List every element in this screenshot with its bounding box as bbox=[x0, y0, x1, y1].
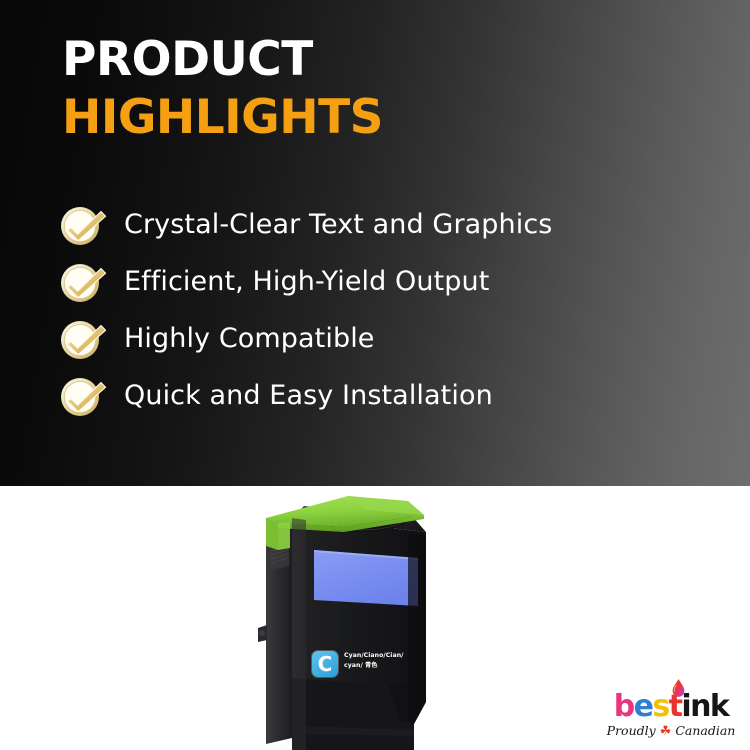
brand-letter-s: s bbox=[652, 689, 668, 724]
title-line-highlights: HIGHLIGHTS bbox=[62, 94, 383, 141]
feature-list: Crystal-Clear Text and Graphics Efficien… bbox=[60, 196, 710, 424]
check-circle-icon bbox=[60, 374, 108, 418]
toner-cartridge-image: C Cyan/Ciano/Cian/ cyan/ 青色 bbox=[248, 488, 448, 750]
feature-label: Quick and Easy Installation bbox=[124, 382, 493, 409]
brand-logo[interactable]: bestink Proudly ☘ Canadian bbox=[604, 692, 738, 738]
check-circle-icon bbox=[60, 260, 108, 304]
tagline-canadian: Canadian bbox=[675, 723, 735, 738]
page-title: PRODUCT HIGHLIGHTS bbox=[62, 36, 383, 141]
ink-drop-icon bbox=[672, 679, 685, 697]
brand-letter-e: e bbox=[634, 689, 653, 724]
cyan-label-line-1: Cyan/Ciano/Cian/ bbox=[344, 651, 439, 661]
check-circle-icon bbox=[60, 317, 108, 361]
cyan-color-badge: C bbox=[312, 651, 338, 677]
cyan-label-line-2: cyan/ 青色 bbox=[344, 661, 439, 671]
product-section: C Cyan/Ciano/Cian/ cyan/ 青色 bbox=[0, 486, 750, 750]
product-highlights-page: PRODUCT HIGHLIGHTS bbox=[0, 0, 750, 750]
hero-section: PRODUCT HIGHLIGHTS bbox=[0, 0, 750, 486]
brand-wordmark: bestink bbox=[604, 692, 738, 722]
brand-letter-b: b bbox=[614, 689, 634, 724]
tagline-proudly: Proudly bbox=[607, 723, 656, 738]
brand-letters-ink: ink bbox=[681, 689, 728, 724]
feature-item: Crystal-Clear Text and Graphics bbox=[60, 196, 710, 253]
check-circle-icon bbox=[60, 203, 108, 247]
feature-label: Highly Compatible bbox=[124, 325, 375, 352]
feature-item: Quick and Easy Installation bbox=[60, 367, 710, 424]
title-line-product: PRODUCT bbox=[62, 36, 383, 83]
feature-item: Efficient, High-Yield Output bbox=[60, 253, 710, 310]
feature-label: Crystal-Clear Text and Graphics bbox=[124, 211, 552, 238]
maple-leaf-icon: ☘ bbox=[660, 724, 672, 739]
feature-item: Highly Compatible bbox=[60, 310, 710, 367]
brand-tagline: Proudly ☘ Canadian bbox=[604, 725, 738, 738]
cyan-color-label: Cyan/Ciano/Cian/ cyan/ 青色 bbox=[344, 651, 439, 671]
feature-label: Efficient, High-Yield Output bbox=[124, 268, 489, 295]
